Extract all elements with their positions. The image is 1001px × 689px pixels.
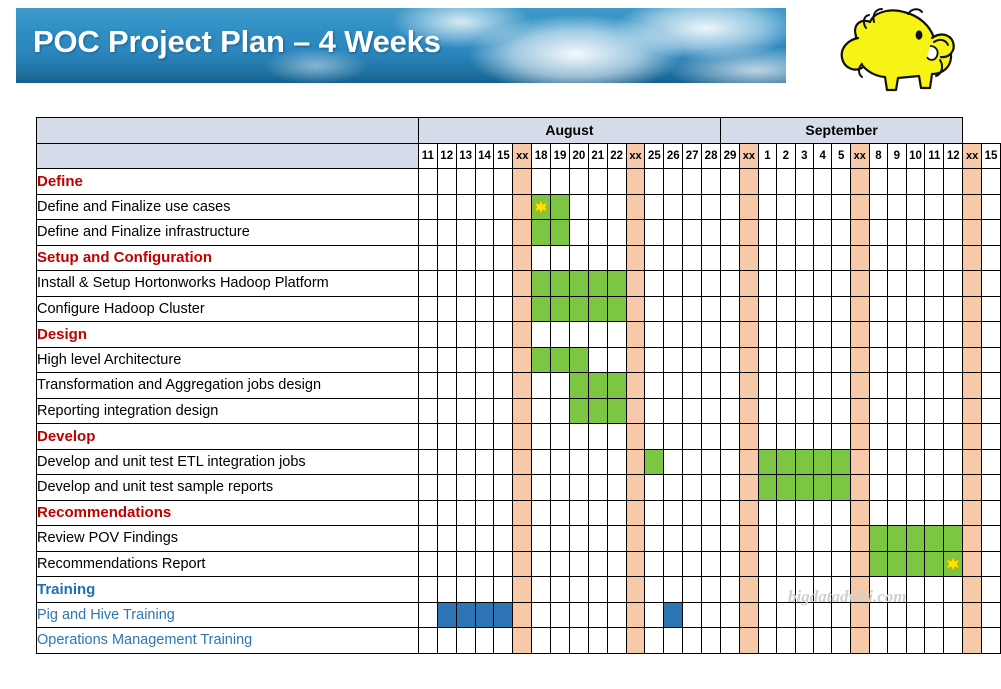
- weekend-cell: [513, 296, 532, 322]
- gantt-empty-cell: [906, 220, 925, 246]
- weekend-cell: [513, 347, 532, 373]
- gantt-empty-cell: [588, 577, 607, 603]
- gantt-empty-cell: [721, 602, 740, 628]
- gantt-empty-cell: [777, 577, 795, 603]
- day-header-21: 21: [588, 143, 607, 169]
- gantt-empty-cell: [814, 398, 832, 424]
- gantt-bar-cell: [569, 347, 588, 373]
- gantt-empty-cell: [925, 500, 944, 526]
- gantt-empty-cell: [683, 220, 702, 246]
- gantt-empty-cell: [588, 194, 607, 220]
- gantt-bar-cell: [532, 194, 551, 220]
- task-label-install-setup-hortonworks-hadoop-platform: Install & Setup Hortonworks Hadoop Platf…: [37, 271, 419, 297]
- day-header-1: 1: [758, 143, 776, 169]
- gantt-empty-cell: [418, 577, 437, 603]
- phase-label-develop: Develop: [37, 424, 419, 450]
- gantt-empty-cell: [982, 245, 1001, 271]
- weekend-cell: [850, 475, 869, 501]
- gantt-empty-cell: [758, 551, 776, 577]
- gantt-empty-cell: [777, 602, 795, 628]
- gantt-empty-cell: [664, 245, 683, 271]
- gantt-empty-cell: [814, 245, 832, 271]
- gantt-empty-cell: [925, 577, 944, 603]
- gantt-empty-cell: [888, 296, 906, 322]
- gantt-empty-cell: [906, 577, 925, 603]
- gantt-empty-cell: [944, 271, 963, 297]
- gantt-empty-cell: [607, 449, 626, 475]
- gantt-empty-cell: [456, 475, 475, 501]
- gantt-bar-cell: [532, 271, 551, 297]
- gantt-empty-cell: [906, 296, 925, 322]
- weekend-cell: [963, 194, 982, 220]
- day-header-14: 14: [475, 143, 494, 169]
- task-row: Operations Management Training: [37, 628, 1001, 654]
- gantt-empty-cell: [494, 169, 513, 195]
- gantt-empty-cell: [683, 602, 702, 628]
- gantt-empty-cell: [607, 500, 626, 526]
- weekend-cell: [626, 424, 645, 450]
- gantt-empty-cell: [869, 628, 887, 654]
- weekend-cell: [626, 373, 645, 399]
- gantt-empty-cell: [888, 245, 906, 271]
- weekend-cell: [513, 194, 532, 220]
- weekend-cell: [626, 220, 645, 246]
- gantt-bar-cell: [456, 602, 475, 628]
- weekend-cell: [626, 628, 645, 654]
- gantt-empty-cell: [832, 424, 850, 450]
- gantt-empty-cell: [777, 296, 795, 322]
- gantt-empty-cell: [832, 526, 850, 552]
- gantt-empty-cell: [645, 194, 664, 220]
- gantt-empty-cell: [494, 194, 513, 220]
- gantt-empty-cell: [645, 296, 664, 322]
- gantt-empty-cell: [532, 526, 551, 552]
- gantt-empty-cell: [645, 220, 664, 246]
- gantt-empty-cell: [925, 347, 944, 373]
- gantt-empty-cell: [569, 194, 588, 220]
- gantt-empty-cell: [475, 347, 494, 373]
- day-header-15: 15: [494, 143, 513, 169]
- day-header-20: 20: [569, 143, 588, 169]
- gantt-empty-cell: [944, 449, 963, 475]
- gantt-bar-cell: [569, 271, 588, 297]
- gantt-empty-cell: [906, 449, 925, 475]
- gantt-empty-cell: [869, 577, 887, 603]
- gantt-empty-cell: [437, 449, 456, 475]
- gantt-empty-cell: [437, 551, 456, 577]
- gantt-bar-cell: [607, 271, 626, 297]
- gantt-empty-cell: [777, 245, 795, 271]
- gantt-empty-cell: [702, 347, 721, 373]
- gantt-bar-cell: [551, 347, 570, 373]
- weekend-cell: [739, 424, 758, 450]
- gantt-empty-cell: [721, 245, 740, 271]
- weekend-cell: [513, 245, 532, 271]
- gantt-empty-cell: [569, 424, 588, 450]
- gantt-empty-cell: [683, 245, 702, 271]
- phase-label-define: Define: [37, 169, 419, 195]
- gantt-empty-cell: [683, 347, 702, 373]
- gantt-empty-cell: [982, 296, 1001, 322]
- gantt-empty-cell: [888, 602, 906, 628]
- day-header-11: 11: [418, 143, 437, 169]
- day-header-27: 27: [683, 143, 702, 169]
- gantt-empty-cell: [664, 475, 683, 501]
- gantt-empty-cell: [832, 373, 850, 399]
- gantt-empty-cell: [418, 551, 437, 577]
- weekend-cell: [739, 398, 758, 424]
- gantt-empty-cell: [456, 194, 475, 220]
- gantt-empty-cell: [721, 475, 740, 501]
- weekend-cell: [963, 271, 982, 297]
- weekend-cell: [626, 449, 645, 475]
- weekend-cell: [739, 322, 758, 348]
- gantt-empty-cell: [645, 602, 664, 628]
- gantt-bar-cell: [814, 449, 832, 475]
- gantt-empty-cell: [664, 322, 683, 348]
- task-row: Define and Finalize infrastructure: [37, 220, 1001, 246]
- day-header-15: 15: [982, 143, 1001, 169]
- gantt-empty-cell: [607, 424, 626, 450]
- gantt-empty-cell: [814, 194, 832, 220]
- gantt-empty-cell: [551, 475, 570, 501]
- gantt-empty-cell: [475, 551, 494, 577]
- gantt-empty-cell: [569, 220, 588, 246]
- hadoop-elephant-logo: [812, 2, 972, 102]
- weekend-cell: [739, 194, 758, 220]
- gantt-empty-cell: [569, 449, 588, 475]
- phase-label-setup-and-configuration: Setup and Configuration: [37, 245, 419, 271]
- gantt-empty-cell: [683, 271, 702, 297]
- gantt-empty-cell: [944, 475, 963, 501]
- day-header-12: 12: [944, 143, 963, 169]
- gantt-empty-cell: [721, 373, 740, 399]
- gantt-empty-cell: [832, 628, 850, 654]
- gantt-empty-cell: [906, 169, 925, 195]
- gantt-empty-cell: [437, 628, 456, 654]
- gantt-empty-cell: [569, 322, 588, 348]
- day-header-12: 12: [437, 143, 456, 169]
- weekend-cell: [513, 220, 532, 246]
- gantt-empty-cell: [532, 551, 551, 577]
- gantt-bar-cell: [532, 347, 551, 373]
- gantt-empty-cell: [683, 296, 702, 322]
- gantt-empty-cell: [664, 169, 683, 195]
- gantt-empty-cell: [645, 551, 664, 577]
- gantt-empty-cell: [832, 245, 850, 271]
- gantt-empty-cell: [607, 169, 626, 195]
- gantt-empty-cell: [437, 245, 456, 271]
- phase-label-training: Training: [37, 577, 419, 603]
- gantt-empty-cell: [494, 347, 513, 373]
- gantt-empty-cell: [456, 577, 475, 603]
- weekend-cell: [739, 271, 758, 297]
- gantt-empty-cell: [475, 296, 494, 322]
- weekend-cell: [513, 322, 532, 348]
- gantt-empty-cell: [418, 220, 437, 246]
- gantt-empty-cell: [456, 220, 475, 246]
- gantt-empty-cell: [702, 194, 721, 220]
- gantt-empty-cell: [925, 296, 944, 322]
- gantt-empty-cell: [418, 424, 437, 450]
- gantt-empty-cell: [645, 500, 664, 526]
- gantt-empty-cell: [721, 398, 740, 424]
- gantt-empty-cell: [494, 296, 513, 322]
- gantt-empty-cell: [569, 551, 588, 577]
- gantt-empty-cell: [832, 398, 850, 424]
- gantt-empty-cell: [418, 245, 437, 271]
- task-row: Define and Finalize use cases: [37, 194, 1001, 220]
- gantt-empty-cell: [758, 296, 776, 322]
- gantt-empty-cell: [944, 194, 963, 220]
- weekend-cell: [963, 500, 982, 526]
- phase-row: Design: [37, 322, 1001, 348]
- gantt-empty-cell: [607, 475, 626, 501]
- gantt-empty-cell: [925, 449, 944, 475]
- gantt-empty-cell: [437, 347, 456, 373]
- gantt-bar-cell: [569, 398, 588, 424]
- gantt-empty-cell: [702, 475, 721, 501]
- gantt-empty-cell: [532, 577, 551, 603]
- weekend-cell: [850, 373, 869, 399]
- gantt-empty-cell: [494, 577, 513, 603]
- gantt-empty-cell: [795, 347, 813, 373]
- gantt-empty-cell: [758, 373, 776, 399]
- gantt-empty-cell: [888, 194, 906, 220]
- gantt-empty-cell: [418, 475, 437, 501]
- task-label-define-and-finalize-infrastructure: Define and Finalize infrastructure: [37, 220, 419, 246]
- gantt-empty-cell: [702, 245, 721, 271]
- gantt-empty-cell: [777, 424, 795, 450]
- gantt-empty-cell: [795, 628, 813, 654]
- gantt-empty-cell: [721, 271, 740, 297]
- day-header-2: 2: [777, 143, 795, 169]
- weekend-cell: [739, 551, 758, 577]
- gantt-empty-cell: [944, 500, 963, 526]
- gantt-empty-cell: [551, 398, 570, 424]
- weekend-cell: [626, 322, 645, 348]
- gantt-empty-cell: [758, 500, 776, 526]
- gantt-empty-cell: [758, 322, 776, 348]
- gantt-empty-cell: [777, 271, 795, 297]
- weekend-cell: [963, 296, 982, 322]
- gantt-empty-cell: [494, 398, 513, 424]
- gantt-empty-cell: [758, 577, 776, 603]
- gantt-empty-cell: [683, 424, 702, 450]
- gantt-empty-cell: [664, 628, 683, 654]
- gantt-bar-cell: [532, 296, 551, 322]
- gantt-empty-cell: [418, 602, 437, 628]
- gantt-bar-cell: [814, 475, 832, 501]
- gantt-bar-cell: [832, 449, 850, 475]
- gantt-empty-cell: [869, 245, 887, 271]
- gantt-empty-cell: [494, 271, 513, 297]
- weekend-cell: [626, 551, 645, 577]
- gantt-empty-cell: [645, 373, 664, 399]
- gantt-empty-cell: [645, 271, 664, 297]
- weekend-cell: [626, 347, 645, 373]
- gantt-empty-cell: [551, 602, 570, 628]
- weekend-cell: [963, 628, 982, 654]
- gantt-empty-cell: [569, 475, 588, 501]
- gantt-empty-cell: [777, 398, 795, 424]
- gantt-empty-cell: [888, 475, 906, 501]
- gantt-empty-cell: [569, 500, 588, 526]
- milestone-star-icon: [944, 552, 962, 577]
- gantt-empty-cell: [814, 296, 832, 322]
- day-header-4: 4: [814, 143, 832, 169]
- weekend-cell: [850, 398, 869, 424]
- gantt-empty-cell: [795, 577, 813, 603]
- weekend-cell: [739, 373, 758, 399]
- weekend-cell: [963, 398, 982, 424]
- gantt-empty-cell: [814, 500, 832, 526]
- weekend-cell: [963, 551, 982, 577]
- gantt-empty-cell: [418, 500, 437, 526]
- gantt-bar-cell: [551, 220, 570, 246]
- gantt-empty-cell: [683, 398, 702, 424]
- weekend-cell: [513, 628, 532, 654]
- gantt-empty-cell: [982, 475, 1001, 501]
- gantt-empty-cell: [795, 220, 813, 246]
- gantt-empty-cell: [456, 373, 475, 399]
- gantt-bar-cell: [664, 602, 683, 628]
- weekend-header-cell: xx: [513, 143, 532, 169]
- gantt-empty-cell: [795, 500, 813, 526]
- day-header-29: 29: [721, 143, 740, 169]
- weekend-cell: [626, 602, 645, 628]
- gantt-empty-cell: [982, 169, 1001, 195]
- gantt-bar-cell: [888, 526, 906, 552]
- gantt-empty-cell: [645, 475, 664, 501]
- gantt-empty-cell: [925, 475, 944, 501]
- gantt-empty-cell: [944, 602, 963, 628]
- gantt-empty-cell: [532, 169, 551, 195]
- weekend-cell: [963, 475, 982, 501]
- gantt-empty-cell: [869, 475, 887, 501]
- gantt-empty-cell: [944, 169, 963, 195]
- gantt-empty-cell: [721, 551, 740, 577]
- gantt-empty-cell: [607, 577, 626, 603]
- gantt-empty-cell: [664, 551, 683, 577]
- gantt-empty-cell: [664, 271, 683, 297]
- gantt-empty-cell: [758, 220, 776, 246]
- gantt-bar-cell: [758, 475, 776, 501]
- gantt-empty-cell: [925, 602, 944, 628]
- task-label-define-and-finalize-use-cases: Define and Finalize use cases: [37, 194, 419, 220]
- gantt-bar-cell: [832, 475, 850, 501]
- gantt-empty-cell: [795, 296, 813, 322]
- gantt-empty-cell: [832, 602, 850, 628]
- gantt-empty-cell: [814, 577, 832, 603]
- gantt-bar-cell: [645, 449, 664, 475]
- gantt-empty-cell: [532, 475, 551, 501]
- gantt-empty-cell: [494, 526, 513, 552]
- project-plan-table: AugustSeptember 1112131415xx1819202122xx…: [36, 117, 1001, 654]
- weekend-cell: [739, 169, 758, 195]
- gantt-empty-cell: [906, 602, 925, 628]
- gantt-empty-cell: [475, 577, 494, 603]
- weekend-header-cell: xx: [850, 143, 869, 169]
- gantt-empty-cell: [664, 347, 683, 373]
- gantt-empty-cell: [795, 194, 813, 220]
- gantt-empty-cell: [645, 526, 664, 552]
- gantt-empty-cell: [758, 398, 776, 424]
- gantt-bar-cell: [888, 551, 906, 577]
- gantt-empty-cell: [475, 245, 494, 271]
- gantt-empty-cell: [721, 449, 740, 475]
- gantt-bar-cell: [607, 398, 626, 424]
- gantt-empty-cell: [906, 424, 925, 450]
- gantt-empty-cell: [944, 347, 963, 373]
- gantt-empty-cell: [494, 322, 513, 348]
- gantt-empty-cell: [607, 526, 626, 552]
- weekend-cell: [513, 526, 532, 552]
- gantt-empty-cell: [475, 449, 494, 475]
- gantt-empty-cell: [702, 628, 721, 654]
- gantt-bar-cell: [437, 602, 456, 628]
- gantt-bar-cell: [475, 602, 494, 628]
- weekend-cell: [513, 398, 532, 424]
- gantt-empty-cell: [494, 424, 513, 450]
- gantt-empty-cell: [832, 296, 850, 322]
- gantt-empty-cell: [758, 194, 776, 220]
- gantt-empty-cell: [944, 322, 963, 348]
- weekend-cell: [626, 500, 645, 526]
- weekend-cell: [850, 220, 869, 246]
- gantt-empty-cell: [702, 526, 721, 552]
- weekend-cell: [626, 398, 645, 424]
- gantt-empty-cell: [777, 169, 795, 195]
- gantt-empty-cell: [683, 577, 702, 603]
- gantt-empty-cell: [456, 424, 475, 450]
- gantt-empty-cell: [437, 424, 456, 450]
- gantt-empty-cell: [475, 220, 494, 246]
- gantt-empty-cell: [645, 169, 664, 195]
- task-label-high-level-architecture: High level Architecture: [37, 347, 419, 373]
- weekend-cell: [739, 296, 758, 322]
- weekend-cell: [963, 526, 982, 552]
- gantt-empty-cell: [814, 373, 832, 399]
- weekend-cell: [513, 424, 532, 450]
- gantt-empty-cell: [437, 296, 456, 322]
- gantt-empty-cell: [906, 475, 925, 501]
- gantt-empty-cell: [418, 194, 437, 220]
- gantt-empty-cell: [588, 220, 607, 246]
- gantt-empty-cell: [832, 271, 850, 297]
- gantt-empty-cell: [456, 347, 475, 373]
- gantt-empty-cell: [795, 373, 813, 399]
- gantt-empty-cell: [607, 245, 626, 271]
- gantt-empty-cell: [888, 322, 906, 348]
- gantt-empty-cell: [982, 271, 1001, 297]
- gantt-empty-cell: [475, 373, 494, 399]
- gantt-empty-cell: [551, 169, 570, 195]
- gantt-empty-cell: [664, 577, 683, 603]
- gantt-empty-cell: [777, 500, 795, 526]
- gantt-empty-cell: [814, 322, 832, 348]
- weekend-cell: [513, 271, 532, 297]
- gantt-empty-cell: [437, 398, 456, 424]
- task-label-transformation-and-aggregation-jobs-design: Transformation and Aggregation jobs desi…: [37, 373, 419, 399]
- gantt-bar-cell: [758, 449, 776, 475]
- phase-label-design: Design: [37, 322, 419, 348]
- gantt-empty-cell: [437, 322, 456, 348]
- gantt-empty-cell: [645, 424, 664, 450]
- task-row: Develop and unit test sample reports: [37, 475, 1001, 501]
- gantt-empty-cell: [645, 322, 664, 348]
- gantt-empty-cell: [721, 347, 740, 373]
